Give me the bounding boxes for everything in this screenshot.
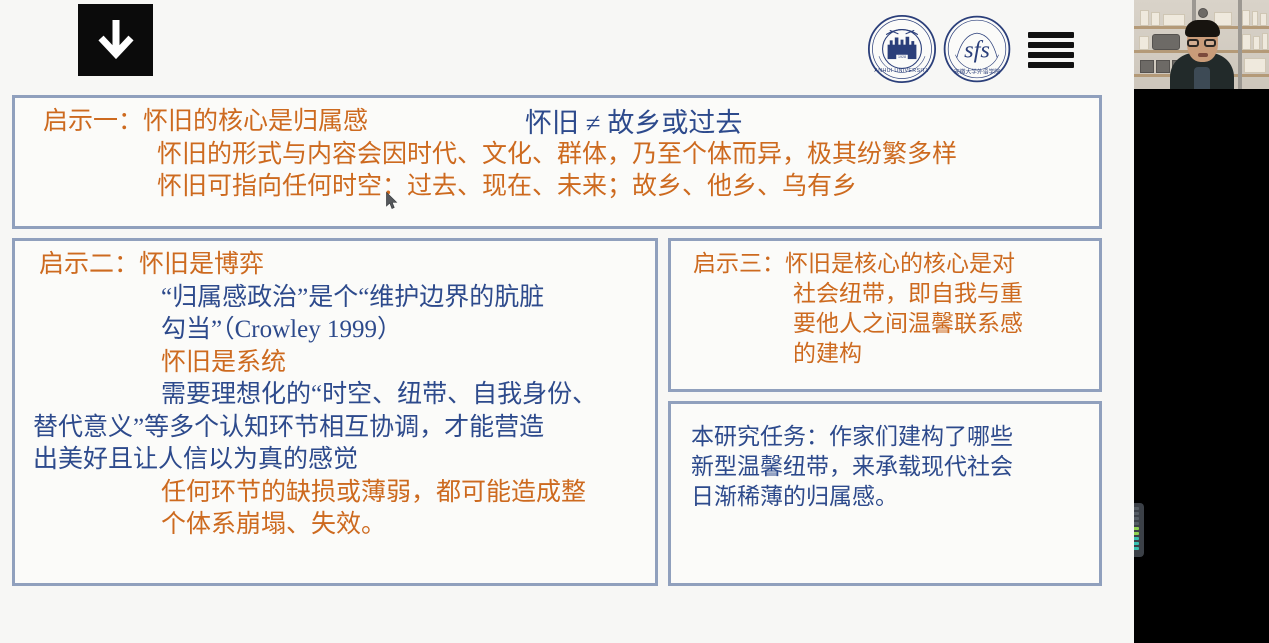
hamburger-bar bbox=[1028, 62, 1074, 68]
svg-text:1928: 1928 bbox=[898, 55, 906, 59]
insight-1-line2: 怀旧的形式与内容会因时代、文化、群体，乃至个体而异，极其纷繁多样 bbox=[29, 139, 1089, 172]
insight-1-line3: 怀旧可指向任何时空：过去、现在、未来；故乡、他乡、乌有乡 bbox=[29, 171, 1089, 204]
participant-strip[interactable] bbox=[1134, 0, 1269, 643]
empty-participant-area bbox=[1134, 89, 1269, 643]
svg-text:ANHUI UNIVERSITY: ANHUI UNIVERSITY bbox=[874, 68, 929, 74]
insight-3-heading: 启示三： bbox=[693, 251, 785, 276]
screen-root: ANHUI UNIVERSITY 1928 sfs 安徽大学外语学院 bbox=[0, 0, 1269, 643]
research-task-box: 本研究任务：作家们建构了哪些 新型温馨纽带，来承载现代社会 日渐稀薄的归属感。 bbox=[668, 401, 1102, 586]
insight-2-line6: 替代意义”等多个认知环节相互协调，才能营造 bbox=[29, 412, 645, 445]
insight-1-heading: 启示一： bbox=[43, 108, 143, 135]
insight-3-line2: 社会纽带，即自我与重 bbox=[685, 279, 1089, 309]
anhui-university-logo: ANHUI UNIVERSITY 1928 bbox=[866, 13, 938, 85]
insight-1-box: 启示一：怀旧的核心是归属感 怀旧 ≠ 故乡或过去 怀旧的形式与内容会因时代、文化… bbox=[12, 95, 1102, 229]
insight-2-line1: 怀旧是博弈 bbox=[139, 251, 264, 278]
down-arrow-icon[interactable] bbox=[78, 4, 153, 76]
meter-segment bbox=[1134, 532, 1139, 535]
task-line1: 本研究任务：作家们建构了哪些 bbox=[685, 422, 1089, 452]
presenter-avatar bbox=[1170, 22, 1234, 89]
insight-2-line2: “归属感政治”是个“维护边界的肮脏 bbox=[29, 282, 645, 315]
task-line2: 新型温馨纽带，来承载现代社会 bbox=[685, 452, 1089, 482]
task-line3: 日渐稀薄的归属感。 bbox=[685, 482, 1089, 512]
meter-segment bbox=[1134, 527, 1139, 530]
meter-segment bbox=[1134, 542, 1139, 545]
hamburger-bar bbox=[1028, 52, 1074, 58]
insight-2-line9: 个体系崩塌、失效。 bbox=[29, 509, 645, 542]
meter-segment bbox=[1134, 537, 1139, 540]
insight-2-line5: 需要理想化的“时空、纽带、自我身份、 bbox=[29, 379, 645, 412]
participant-video-tile[interactable] bbox=[1134, 0, 1269, 89]
audio-level-meter[interactable] bbox=[1134, 503, 1144, 557]
insight-2-box: 启示二：怀旧是博弈 “归属感政治”是个“维护边界的肮脏 勾当”（Crowley … bbox=[12, 238, 658, 586]
insight-3-box: 启示三：怀旧是核心的核心是对 社会纽带，即自我与重 要他人之间温馨联系感 的建构 bbox=[668, 238, 1102, 392]
meter-segment bbox=[1134, 512, 1139, 515]
hamburger-bar bbox=[1028, 42, 1074, 48]
insight-1-callout: 怀旧 ≠ 故乡或过去 bbox=[525, 106, 742, 141]
meter-segment bbox=[1134, 522, 1139, 525]
insight-2-line4: 怀旧是系统 bbox=[29, 347, 645, 380]
insight-3-line4: 的建构 bbox=[685, 339, 1089, 369]
slide-header: ANHUI UNIVERSITY 1928 sfs 安徽大学外语学院 bbox=[0, 0, 1134, 90]
hamburger-menu-icon[interactable] bbox=[1028, 32, 1074, 68]
insight-2-heading: 启示二： bbox=[39, 251, 139, 278]
insight-2-line8: 任何环节的缺损或薄弱，都可能造成整 bbox=[29, 477, 645, 510]
meter-segment bbox=[1134, 517, 1139, 520]
hamburger-bar bbox=[1028, 32, 1074, 38]
sfs-logo: sfs 安徽大学外语学院 bbox=[941, 13, 1013, 85]
shared-slide-area[interactable]: ANHUI UNIVERSITY 1928 sfs 安徽大学外语学院 bbox=[0, 0, 1134, 643]
insight-3-line3: 要他人之间温馨联系感 bbox=[685, 309, 1089, 339]
insight-2-line3: 勾当”（Crowley 1999） bbox=[29, 314, 645, 347]
meter-segment bbox=[1134, 547, 1139, 550]
meter-segment bbox=[1134, 507, 1139, 510]
insight-1-line1: 怀旧的核心是归属感 bbox=[143, 108, 368, 135]
insight-3-line1: 怀旧是核心的核心是对 bbox=[785, 251, 1015, 276]
insight-2-line7: 出美好且让人信以为真的感觉 bbox=[29, 444, 645, 477]
svg-text:sfs: sfs bbox=[964, 37, 990, 64]
